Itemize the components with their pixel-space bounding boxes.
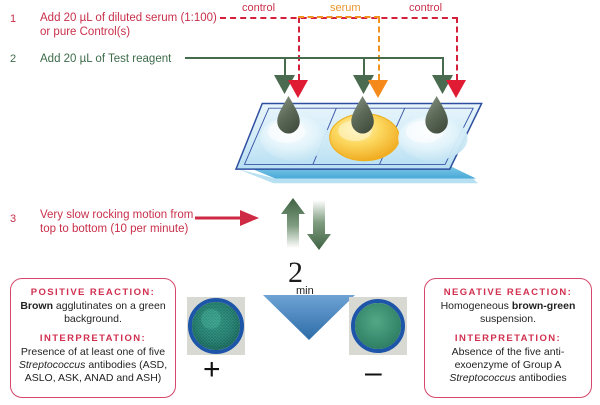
negative-interp-pre: Absence of the five anti-exoenzyme of Gr… [452,346,565,371]
positive-body-rest: agglutinates on a green background. [53,300,166,325]
positive-interp-italic: Streptococcus [19,359,86,371]
result-pointer-triangle [263,295,355,341]
step-2-number: 2 [10,53,16,65]
negative-result-box: NEGATIVE REACTION: Homogeneous brown-gre… [424,278,592,398]
step-3-text: Very slow rocking motion from top to bot… [40,208,200,236]
positive-result-box: POSITIVE REACTION: Brown agglutinates on… [10,278,176,398]
positive-heading: POSITIVE REACTION: [17,287,169,298]
positive-body: Brown agglutinates on a green background… [17,300,169,326]
label-control-left: control [242,2,275,14]
negative-body-bold: brown-green [512,300,576,312]
step-1-number: 1 [10,13,16,25]
positive-interpretation: Presence of at least one of five Strepto… [17,346,169,385]
serum-dashed-bus [298,16,380,18]
positive-body-bold: Brown [20,300,53,312]
step-3-number: 3 [10,213,16,225]
control-left-dashed-drop [298,17,300,80]
label-serum: serum [330,2,361,14]
negative-sign: – [365,356,382,390]
negative-interp-post: antibodies [516,372,567,384]
label-control-right: control [409,2,442,14]
rocking-up-down-arrows-icon [279,198,333,250]
positive-interpretation-heading: INTERPRETATION: [17,333,169,344]
photo-negative [349,297,407,355]
positive-sign: + [203,353,221,387]
negative-body-post: suspension. [480,313,536,325]
step-1-text: Add 20 µL of diluted serum (1:100) or pu… [40,11,220,39]
photo-positive [187,297,245,355]
negative-interp-italic: Streptococcus [449,372,516,384]
reagent-line-bus [185,57,443,59]
step-2-text: Add 20 µL of Test reagent [40,52,230,66]
serum-dashed-drop [378,17,380,80]
negative-interpretation: Absence of the five anti-exoenzyme of Gr… [431,346,585,385]
negative-interpretation-heading: INTERPRETATION: [431,333,585,344]
negative-heading: NEGATIVE REACTION: [431,287,585,298]
reaction-slide [222,96,490,186]
positive-interp-pre: Presence of at least one of five [21,346,165,358]
rocking-arrow-icon [195,207,265,229]
negative-body-pre: Homogeneous [441,300,512,312]
control-right-dashed-drop [456,17,458,80]
negative-body: Homogeneous brown-green suspension. [431,300,585,326]
